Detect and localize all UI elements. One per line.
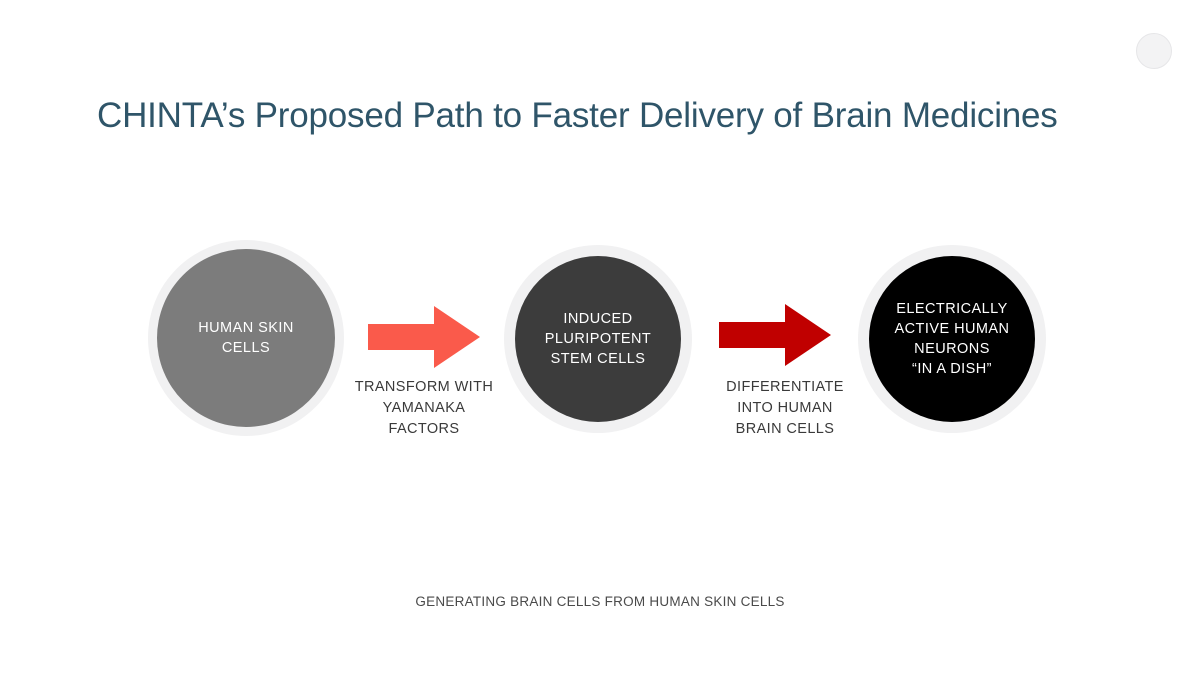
process-flow-diagram: HUMAN SKIN CELLS TRANSFORM WITH YAMANAKA… bbox=[0, 0, 1200, 675]
slide-canvas: CHINTA’s Proposed Path to Faster Deliver… bbox=[0, 0, 1200, 675]
arrow-differentiate-icon bbox=[719, 302, 831, 368]
arrow-caption-transform: TRANSFORM WITH YAMANAKA FACTORS bbox=[334, 377, 514, 440]
diagram-node-induced-pluripotent-stem-cells[interactable]: INDUCED PLURIPOTENT STEM CELLS bbox=[504, 245, 692, 433]
footer-caption: GENERATING BRAIN CELLS FROM HUMAN SKIN C… bbox=[0, 594, 1200, 609]
arrow-transform-icon bbox=[368, 304, 480, 370]
node-label: HUMAN SKIN CELLS bbox=[188, 318, 304, 358]
diagram-node-human-skin-cells[interactable]: HUMAN SKIN CELLS bbox=[148, 240, 344, 436]
node-label: ELECTRICALLY ACTIVE HUMAN NEURONS “IN A … bbox=[885, 299, 1020, 379]
node-label: INDUCED PLURIPOTENT STEM CELLS bbox=[535, 309, 661, 369]
diagram-node-electrically-active-human-neurons[interactable]: ELECTRICALLY ACTIVE HUMAN NEURONS “IN A … bbox=[858, 245, 1046, 433]
arrow-caption-differentiate: DIFFERENTIATE INTO HUMAN BRAIN CELLS bbox=[700, 377, 870, 440]
